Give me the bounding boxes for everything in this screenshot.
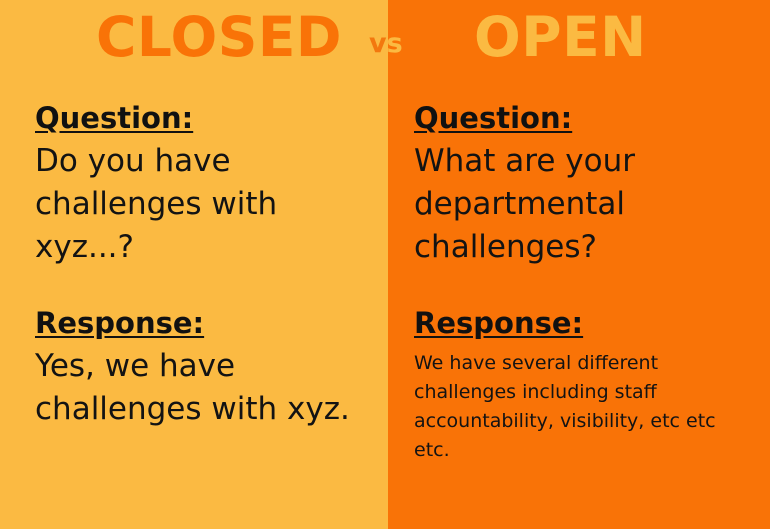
closed-question-block: Question: Do you have challenges with xy…: [35, 98, 371, 269]
comparison-slide: CLOSED vs vs OPEN Question: Do you have …: [0, 0, 770, 529]
open-question-heading: Question:: [414, 98, 572, 138]
closed-content-column: Question: Do you have challenges with xy…: [35, 98, 371, 431]
open-title: OPEN: [474, 6, 647, 68]
closed-response-block: Response: Yes, we have challenges with x…: [35, 303, 371, 431]
closed-response-body: Yes, we have challenges with xyz.: [35, 345, 371, 431]
closed-question-body: Do you have challenges with xyz...?: [35, 140, 371, 269]
open-content-column: Question: What are your departmental cha…: [414, 98, 754, 465]
open-response-body: We have several different challenges inc…: [414, 349, 754, 465]
open-question-body: What are your departmental challenges?: [414, 140, 754, 269]
vs-separator: vs vs: [369, 27, 413, 61]
open-question-block: Question: What are your departmental cha…: [414, 98, 754, 269]
closed-title: CLOSED: [96, 6, 342, 68]
closed-response-heading: Response:: [35, 303, 204, 343]
open-response-heading: Response:: [414, 303, 583, 343]
open-response-block: Response: We have several different chal…: [414, 303, 754, 465]
closed-question-heading: Question:: [35, 98, 193, 138]
